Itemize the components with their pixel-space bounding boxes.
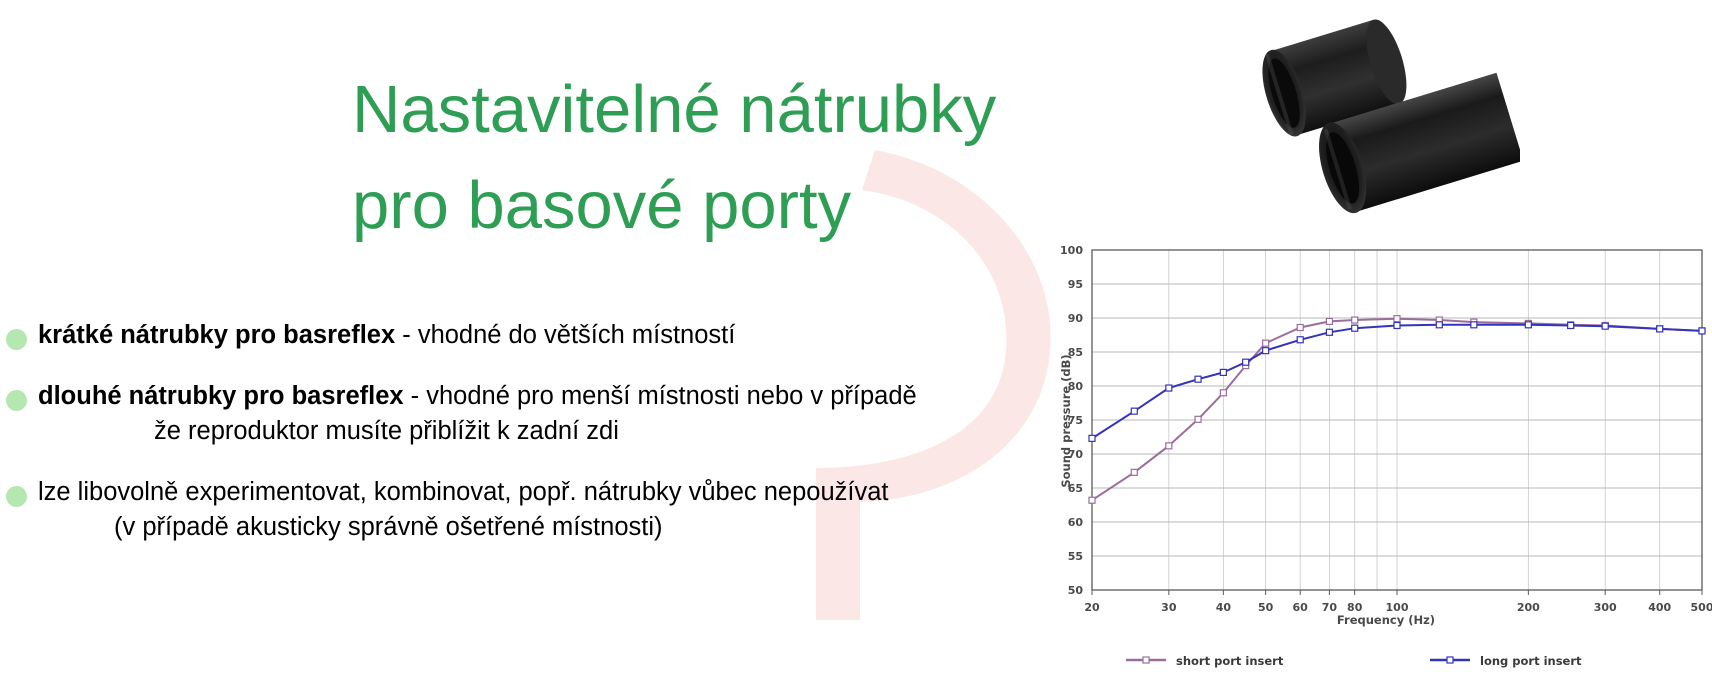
chart-marker [1089,435,1095,441]
product-photo-port-inserts [1120,0,1520,250]
list-item: krátké nátrubky pro basreflex - vhodné d… [0,318,1060,353]
page-title: Nastavitelné nátrubky pro basové porty [352,62,1112,254]
slide-root: Nastavitelné nátrubky pro basové porty k… [0,0,1712,697]
bullet-dot-icon [6,329,27,350]
bullet-dot-icon [6,486,27,507]
frequency-response-chart: 50556065707580859095100 2030405060708010… [1030,236,1712,697]
chart-x-tick: 300 [1594,601,1617,614]
bullet-continuation-2: že reproduktor musíte přiblížit k zadní … [38,414,1060,449]
chart-x-tick: 30 [1161,601,1177,614]
chart-marker [1263,348,1269,354]
chart-x-axis-title: Frequency (Hz) [1337,613,1435,627]
bullet-bold-2: dlouhé nátrubky pro basreflex [38,382,404,410]
chart-marker [1602,323,1608,329]
chart-marker [1699,328,1705,334]
chart-marker [1089,497,1095,503]
title-line-2: pro basové porty [352,158,1112,254]
chart-y-tick: 90 [1068,312,1084,325]
chart-marker [1131,469,1137,475]
chart-marker [1326,318,1332,324]
chart-x-tick: 500 [1691,601,1712,614]
chart-marker [1220,390,1226,396]
chart-marker [1195,416,1201,422]
chart-x-tick: 20 [1084,601,1100,614]
chart-y-tick: 60 [1068,516,1084,529]
chart-x-tick: 200 [1517,601,1540,614]
chart-marker [1352,325,1358,331]
chart-y-tick: 50 [1068,584,1084,597]
chart-marker [1195,376,1201,382]
bullet-list: krátké nátrubky pro basreflex - vhodné d… [0,318,1060,571]
chart-marker [1657,326,1663,332]
title-line-1: Nastavitelné nátrubky [352,62,1112,158]
chart-x-tick: 60 [1293,601,1309,614]
chart-x-tick: 40 [1216,601,1232,614]
bullet-rest-2: - vhodné pro menší místnosti nebo v příp… [404,382,917,410]
chart-y-tick: 100 [1060,244,1083,257]
chart-gridlines [1092,250,1702,590]
chart-marker [1436,322,1442,328]
chart-legend-label: long port insert [1480,654,1582,668]
chart-marker [1263,340,1269,346]
chart-marker [1525,322,1531,328]
chart-marker [1471,322,1477,328]
chart-marker [1394,322,1400,328]
chart-x-tick: 50 [1258,601,1274,614]
chart-y-tick: 95 [1068,278,1083,291]
list-item: lze libovolně experimentovat, kombinovat… [0,475,1060,545]
chart-marker [1326,329,1332,335]
bullet-continuation-3: (v případě akusticky správně ošetřené mí… [38,510,1060,545]
chart-marker [1297,325,1303,331]
bullet-dot-icon [6,390,27,411]
list-item: dlouhé nátrubky pro basreflex - vhodné p… [0,379,1060,449]
bullet-text-1: krátké nátrubky pro basreflex - vhodné d… [38,318,1060,353]
chart-marker [1220,369,1226,375]
chart-x-tick-labels: 20304050607080100200300400500 [1084,590,1712,614]
chart-canvas: 50556065707580859095100 2030405060708010… [1030,236,1712,697]
chart-marker [1352,317,1358,323]
chart-y-tick: 55 [1068,550,1083,563]
bullet-text-2: dlouhé nátrubky pro basreflex - vhodné p… [38,379,1060,414]
bullet-bold-1: krátké nátrubky pro basreflex [38,321,395,349]
chart-y-axis-title: Sound pressure (dB) [1059,354,1073,487]
bullet-text-3: lze libovolně experimentovat, kombinovat… [38,475,1060,510]
chart-x-tick: 70 [1322,601,1338,614]
chart-marker [1394,316,1400,322]
chart-marker [1166,443,1172,449]
bullet-rest-1: - vhodné do větších místností [395,321,735,349]
chart-x-tick: 400 [1648,601,1671,614]
chart-legend: short port insertlong port insert [1126,654,1582,668]
chart-marker [1297,337,1303,343]
chart-marker [1166,385,1172,391]
chart-marker [1243,359,1249,365]
chart-legend-label: short port insert [1176,654,1284,668]
chart-marker [1568,322,1574,328]
bullet-rest-3: lze libovolně experimentovat, kombinovat… [38,478,889,506]
chart-marker [1131,408,1137,414]
